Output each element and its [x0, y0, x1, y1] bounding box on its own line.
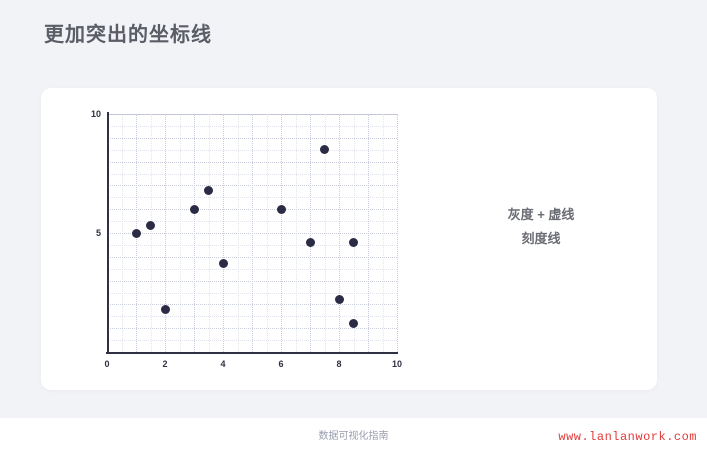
gridline-vertical — [194, 114, 195, 352]
data-point — [161, 305, 170, 314]
y-axis-tick-labels: 510 — [77, 105, 101, 373]
x-tick-label: 8 — [336, 359, 341, 369]
gridline-vertical — [281, 114, 282, 352]
gridline-vertical-minor — [296, 114, 297, 352]
gridline-horizontal-minor — [107, 269, 397, 270]
gridline-horizontal-minor — [107, 293, 397, 294]
x-tick-label: 6 — [278, 359, 283, 369]
data-point — [132, 229, 141, 238]
annotation-line-2: 刻度线 — [441, 227, 641, 251]
data-point — [335, 295, 344, 304]
y-tick-label: 10 — [91, 109, 101, 119]
gridline-horizontal — [107, 281, 397, 282]
gridline-vertical-minor — [383, 114, 384, 352]
data-point — [349, 238, 358, 247]
watermark: www.lanlanwork.com — [558, 430, 697, 444]
data-point — [190, 205, 199, 214]
gridline-vertical — [252, 114, 253, 352]
gridline-vertical — [339, 114, 340, 352]
y-axis-line — [107, 112, 109, 354]
x-tick-label: 4 — [220, 359, 225, 369]
x-axis-line — [106, 352, 398, 354]
gridline-vertical-minor — [151, 114, 152, 352]
gridline-horizontal-minor — [107, 150, 397, 151]
gridline-horizontal-minor — [107, 174, 397, 175]
page-title: 更加突出的坐标线 — [44, 18, 212, 47]
x-tick-label: 2 — [162, 359, 167, 369]
gridline-horizontal — [107, 162, 397, 163]
gridline-vertical-minor — [238, 114, 239, 352]
chart-annotation: 灰度 + 虚线 刻度线 — [441, 203, 641, 251]
gridline-vertical — [223, 114, 224, 352]
scatter-chart: 510 0246810 — [63, 105, 423, 373]
gridline-horizontal-minor — [107, 340, 397, 341]
gridline-vertical-minor — [267, 114, 268, 352]
gridline-horizontal-minor — [107, 316, 397, 317]
gridline-vertical-minor — [180, 114, 181, 352]
gridline-horizontal — [107, 114, 397, 115]
gridline-horizontal — [107, 304, 397, 305]
gridline-vertical — [397, 114, 398, 352]
gridline-horizontal-minor — [107, 126, 397, 127]
gridline-vertical — [310, 114, 311, 352]
x-tick-label: 10 — [392, 359, 402, 369]
data-point — [219, 259, 228, 268]
data-point — [204, 186, 213, 195]
gridline-horizontal-minor — [107, 197, 397, 198]
gridline-horizontal — [107, 328, 397, 329]
annotation-line-1: 灰度 + 虚线 — [441, 203, 641, 227]
gridline-horizontal — [107, 233, 397, 234]
gridline-horizontal — [107, 138, 397, 139]
y-tick-label: 5 — [96, 228, 101, 238]
gridline-vertical-minor — [122, 114, 123, 352]
gridline-vertical — [165, 114, 166, 352]
gridline-vertical — [368, 114, 369, 352]
gridline-horizontal — [107, 185, 397, 186]
data-point — [349, 319, 358, 328]
data-point — [306, 238, 315, 247]
data-point — [277, 205, 286, 214]
gridline-vertical-minor — [354, 114, 355, 352]
x-tick-label: 0 — [104, 359, 109, 369]
chart-card: 510 0246810 灰度 + 虚线 刻度线 — [41, 88, 657, 390]
gridline-horizontal — [107, 209, 397, 210]
gridline-vertical-minor — [209, 114, 210, 352]
plot-area — [107, 114, 397, 352]
slide-canvas: 更加突出的坐标线 510 0246810 灰度 + 虚线 刻度线 — [0, 0, 707, 418]
gridline-horizontal — [107, 257, 397, 258]
